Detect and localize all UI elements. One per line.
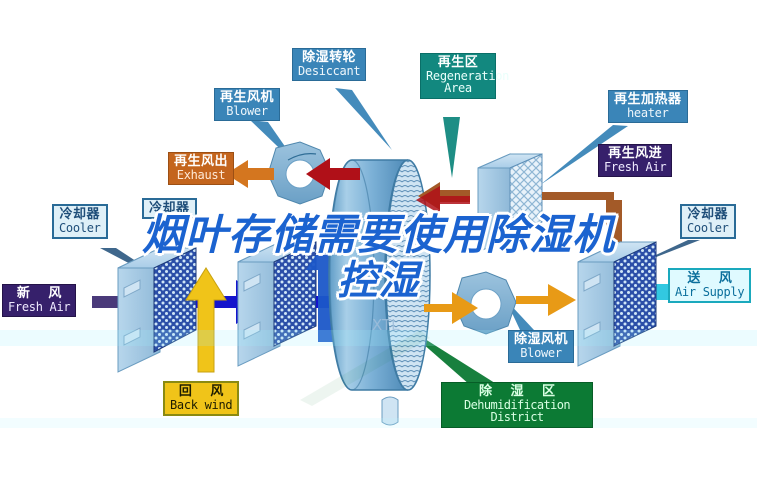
label-back-wind[interactable]: 回 风 Back wind [163, 381, 239, 416]
label-air-supply-en: Air Supply [675, 286, 744, 299]
label-dehumid-blower-en: Blower [514, 347, 568, 360]
cooler-unit-left-2 [238, 242, 316, 366]
label-air-supply[interactable]: 送 风 Air Supply [668, 268, 751, 303]
label-cooler-right-cn: 冷却器 [687, 208, 729, 222]
label-regen-exhaust-en: Exhaust [174, 169, 228, 182]
diagram-canvas: XTL [0, 0, 757, 488]
label-dehumid-district[interactable]: 除 湿 区 Dehumidification District [441, 382, 593, 428]
label-regen-heater-cn: 再生加热器 [614, 93, 682, 107]
label-dehumid-district-en: Dehumidification District [447, 399, 587, 424]
label-regen-blower-cn: 再生风机 [220, 91, 274, 105]
label-regen-fresh-air-in-en: Fresh Air [604, 161, 666, 174]
label-desiccant-wheel-cn: 除湿转轮 [298, 51, 360, 65]
schematic-drawing: XTL [0, 0, 757, 488]
label-back-wind-cn: 回 风 [170, 385, 232, 399]
cooler-unit-left-1 [118, 248, 196, 372]
label-regen-area-en: Regeneration Area [426, 70, 490, 95]
label-fresh-air-cn: 新 风 [8, 287, 70, 301]
label-regen-heater-en: heater [614, 107, 682, 120]
label-back-wind-en: Back wind [170, 399, 232, 412]
label-cooler-left-1-cn: 冷却器 [59, 208, 101, 222]
label-regen-blower-en: Blower [220, 105, 274, 118]
label-cooler-right[interactable]: 冷却器 Cooler [680, 204, 736, 239]
label-fresh-air[interactable]: 新 风 Fresh Air [2, 284, 76, 317]
label-dehumid-blower-cn: 除湿风机 [514, 333, 568, 347]
label-dehumid-district-cn: 除 湿 区 [447, 385, 587, 399]
label-dehumid-blower[interactable]: 除湿风机 Blower [508, 330, 574, 363]
label-desiccant-wheel[interactable]: 除湿转轮 Desiccant [292, 48, 366, 81]
label-desiccant-wheel-en: Desiccant [298, 65, 360, 78]
label-cooler-left-2[interactable]: 冷却器 [142, 198, 197, 219]
label-cooler-left-1-en: Cooler [59, 222, 101, 235]
cooler-unit-right [578, 242, 656, 366]
label-cooler-left-1[interactable]: 冷却器 Cooler [52, 204, 108, 239]
label-regen-area[interactable]: 再生区 Regeneration Area [420, 53, 496, 99]
label-regen-area-cn: 再生区 [426, 56, 490, 70]
label-cooler-left-2-cn: 冷却器 [149, 202, 190, 216]
label-regen-blower[interactable]: 再生风机 Blower [214, 88, 280, 121]
label-regen-fresh-air-in-cn: 再生风进 [604, 147, 666, 161]
arrow-dry-air-to-cooler [516, 284, 576, 316]
label-regen-exhaust[interactable]: 再生风出 Exhaust [168, 152, 234, 185]
label-regen-heater[interactable]: 再生加热器 heater [608, 90, 688, 123]
label-regen-exhaust-cn: 再生风出 [174, 155, 228, 169]
label-cooler-right-en: Cooler [687, 222, 729, 235]
regen-heater-unit [478, 154, 542, 252]
label-regen-fresh-air-in[interactable]: 再生风进 Fresh Air [598, 144, 672, 177]
label-fresh-air-en: Fresh Air [8, 301, 70, 314]
label-air-supply-cn: 送 风 [675, 272, 744, 286]
